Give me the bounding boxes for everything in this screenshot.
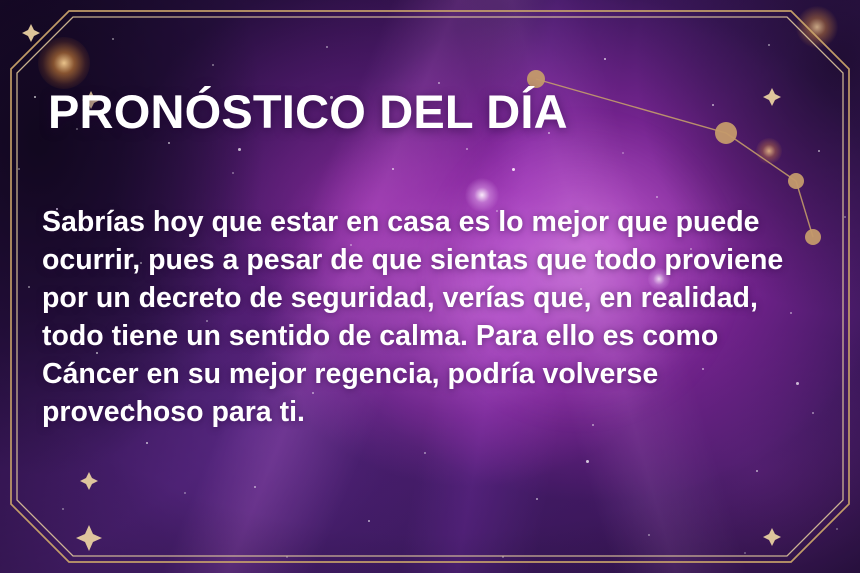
body-line: todo tiene un sentido de calma. Para ell…	[42, 317, 832, 355]
body-line: Sabrías hoy que estar en casa es lo mejo…	[42, 203, 832, 241]
sparkle-icon-bottom-right	[763, 528, 781, 546]
sparkle-icon-bottom-left	[76, 525, 102, 551]
page-title: PRONÓSTICO DEL DÍA	[48, 88, 568, 136]
sparkle-icon-top-right	[763, 88, 781, 106]
sparkle-icon-corner-tl	[22, 24, 40, 42]
body-line: ocurrir, pues a pesar de que sientas que…	[42, 241, 832, 279]
body-line: Cáncer en su mejor regencia, podría volv…	[42, 355, 832, 393]
sparkle-icon-left-mid	[80, 472, 98, 490]
body-line: provechoso para ti.	[42, 393, 832, 431]
horoscope-card: PRONÓSTICO DEL DÍA Sabrías hoy que estar…	[0, 0, 860, 573]
horoscope-body-text: Sabrías hoy que estar en casa es lo mejo…	[42, 203, 832, 431]
body-line: por un decreto de seguridad, verías que,…	[42, 279, 832, 317]
